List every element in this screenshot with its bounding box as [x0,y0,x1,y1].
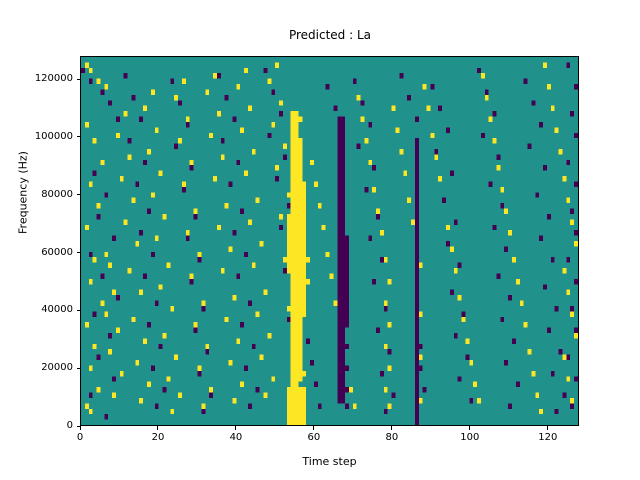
y-tick-mark [77,368,81,369]
page-title: Predicted : La [80,28,580,42]
x-tick-label: 100 [450,431,490,445]
y-tick-label: 100000 [35,130,73,144]
y-tick-mark [77,194,81,195]
y-tick-mark [77,136,81,137]
x-tick-label: 60 [294,431,334,445]
x-tick-label: 20 [138,431,178,445]
x-tick-mark [391,426,392,430]
x-tick-mark [547,426,548,430]
x-tick-label: 80 [372,431,412,445]
y-tick-label: 80000 [41,188,73,202]
y-tick-label: 120000 [35,72,73,86]
x-tick-mark [235,426,236,430]
x-tick-label: 0 [60,431,100,445]
y-tick-label: 20000 [41,361,73,375]
y-tick-mark [77,79,81,80]
x-tick-label: 40 [216,431,256,445]
y-axis-label: Frequency (Hz) [17,123,30,263]
x-tick-mark [157,426,158,430]
heatmap-image [81,57,578,425]
figure-canvas: Predicted : La Frequency (Hz) Time step … [0,0,640,480]
x-tick-mark [313,426,314,430]
x-tick-label: 120 [528,431,568,445]
y-tick-mark [77,310,81,311]
x-tick-mark [469,426,470,430]
y-tick-mark [77,252,81,253]
x-tick-mark [80,426,81,430]
x-axis-label: Time step [80,455,579,468]
y-tick-label: 60000 [41,246,73,260]
y-tick-label: 40000 [41,303,73,317]
heatmap-axes [80,56,579,426]
